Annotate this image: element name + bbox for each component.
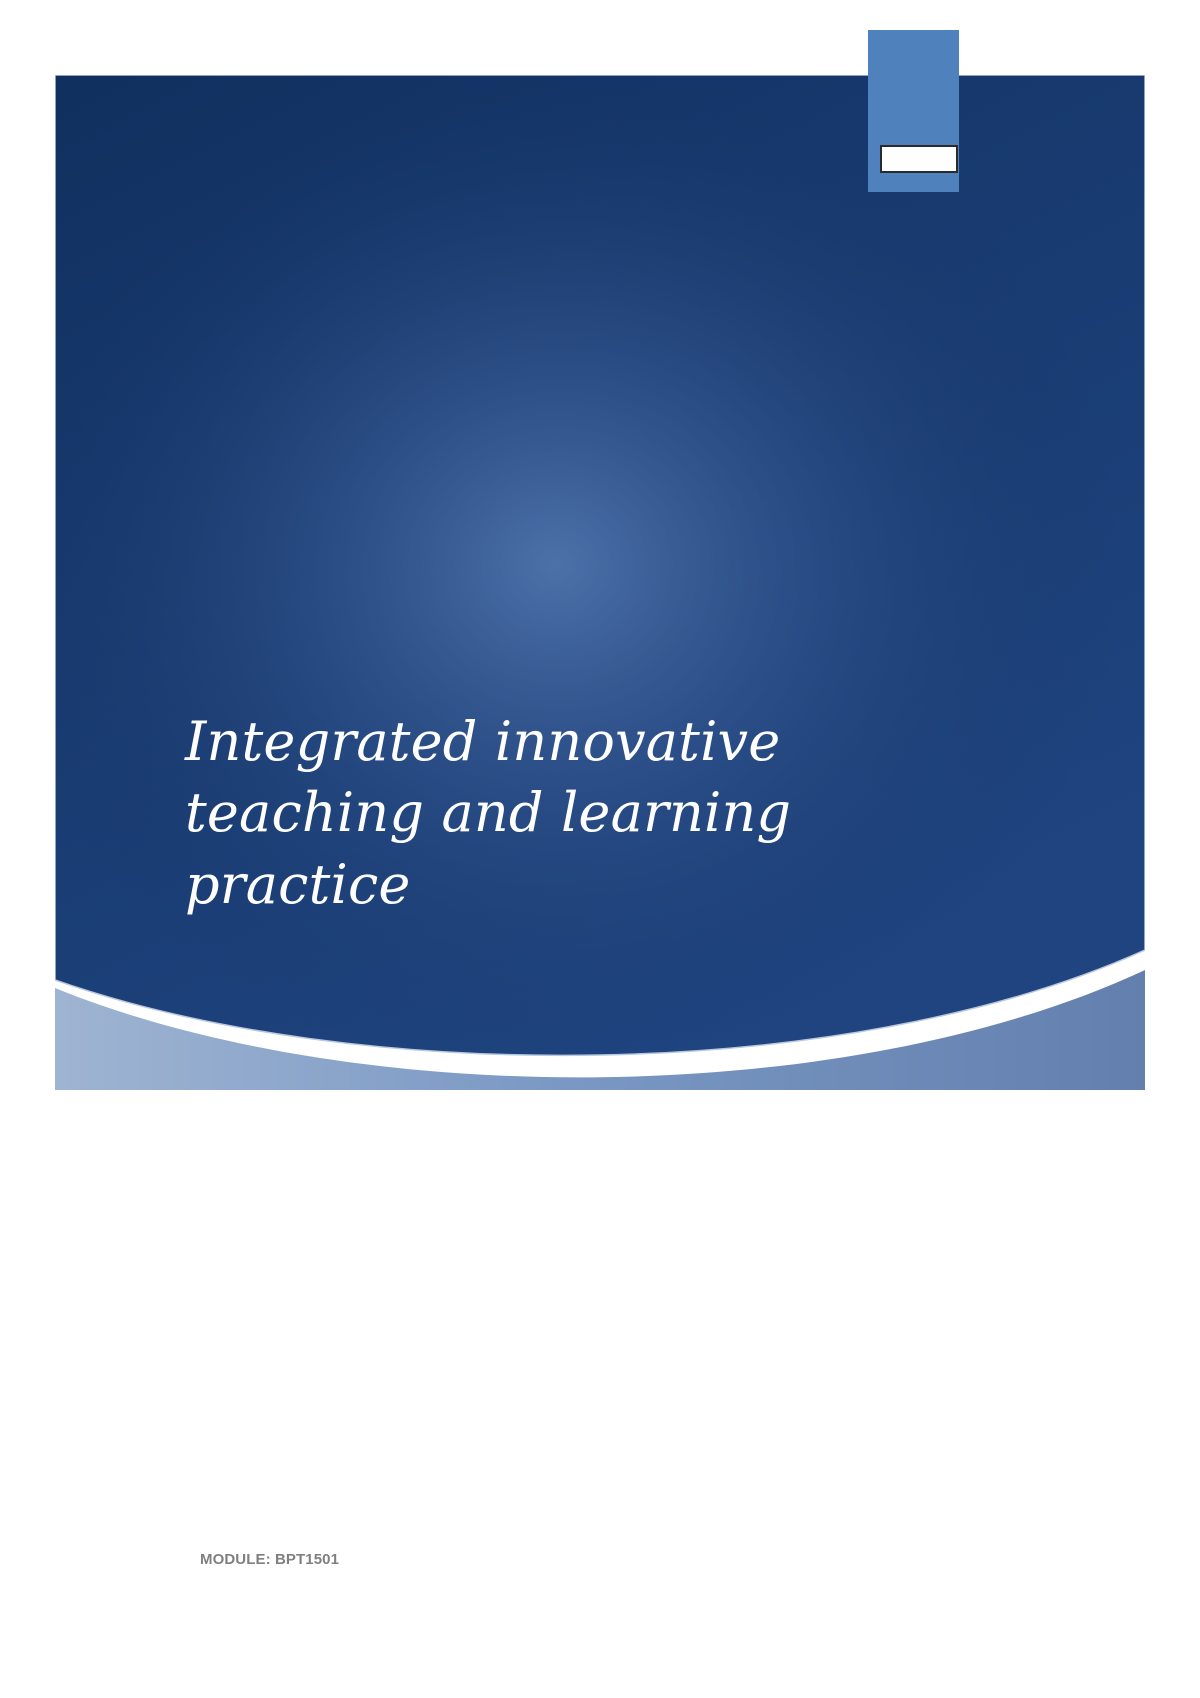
accent-text-field[interactable] — [880, 145, 958, 173]
cover-color-panel — [55, 75, 1145, 1075]
document-cover-page: Integrated innovative teaching and learn… — [0, 0, 1200, 1698]
page-title: Integrated innovative teaching and learn… — [185, 706, 825, 920]
module-code-label: MODULE: BPT1501 — [200, 1551, 800, 1568]
title-block: Integrated innovative teaching and learn… — [185, 706, 825, 920]
footer-block: MODULE: BPT1501 — [200, 1551, 800, 1568]
